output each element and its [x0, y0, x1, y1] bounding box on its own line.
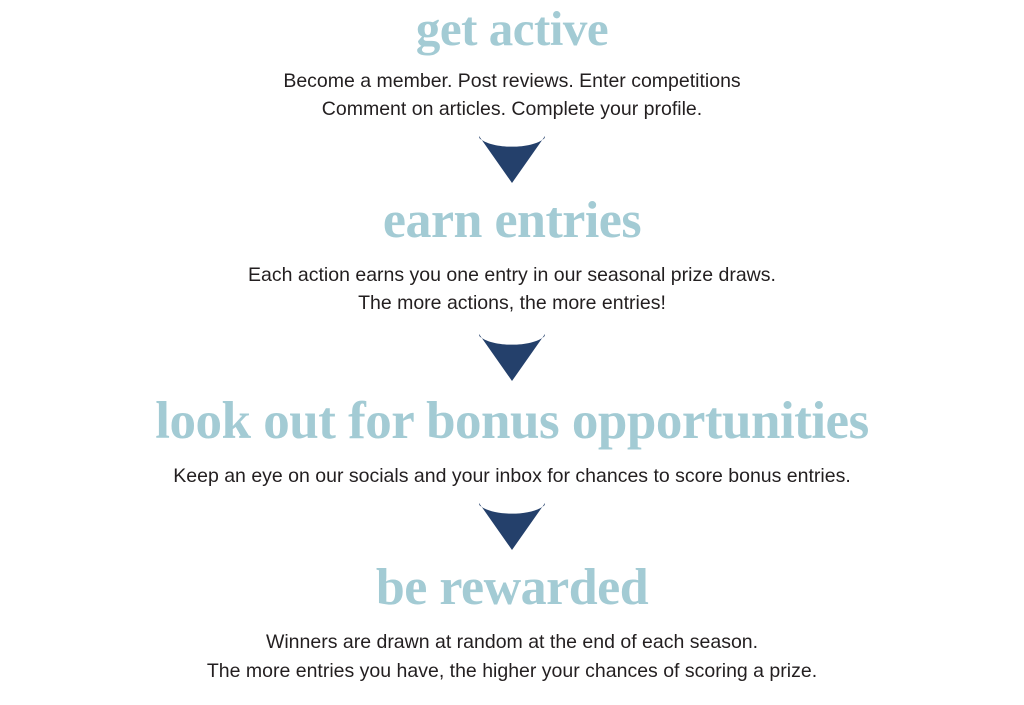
step-be-rewarded: be rewarded Winners are drawn at random …	[0, 562, 1024, 685]
step-4-body-line-1: Winners are drawn at random at the end o…	[207, 628, 817, 656]
step-1-body: Become a member. Post reviews. Enter com…	[283, 67, 740, 124]
step-2-body-line-1: Each action earns you one entry in our s…	[248, 261, 776, 289]
step-earn-entries: earn entries Each action earns you one e…	[0, 195, 1024, 318]
step-2-body-line-2: The more actions, the more entries!	[248, 289, 776, 317]
down-arrow-icon	[478, 334, 546, 381]
step-2-body: Each action earns you one entry in our s…	[248, 261, 776, 318]
step-get-active: get active Become a member. Post reviews…	[0, 0, 1024, 124]
step-4-body: Winners are drawn at random at the end o…	[207, 628, 817, 685]
step-1-body-line-2: Comment on articles. Complete your profi…	[283, 95, 740, 123]
step-4-body-line-2: The more entries you have, the higher yo…	[207, 657, 817, 685]
connector-3	[0, 503, 1024, 550]
step-3-heading: look out for bonus opportunities	[155, 395, 868, 448]
step-2-heading: earn entries	[383, 195, 641, 247]
down-arrow-icon	[478, 503, 546, 550]
step-4-heading: be rewarded	[376, 562, 648, 614]
connector-2	[0, 334, 1024, 381]
step-1-body-line-1: Become a member. Post reviews. Enter com…	[283, 67, 740, 95]
rewards-flow-infographic: get active Become a member. Post reviews…	[0, 0, 1024, 705]
connector-1	[0, 136, 1024, 183]
step-3-body-line-1: Keep an eye on our socials and your inbo…	[173, 462, 851, 490]
down-arrow-icon	[478, 136, 546, 183]
step-bonus-opportunities: look out for bonus opportunities Keep an…	[0, 395, 1024, 490]
step-1-heading: get active	[416, 4, 608, 53]
step-3-body: Keep an eye on our socials and your inbo…	[173, 462, 851, 490]
